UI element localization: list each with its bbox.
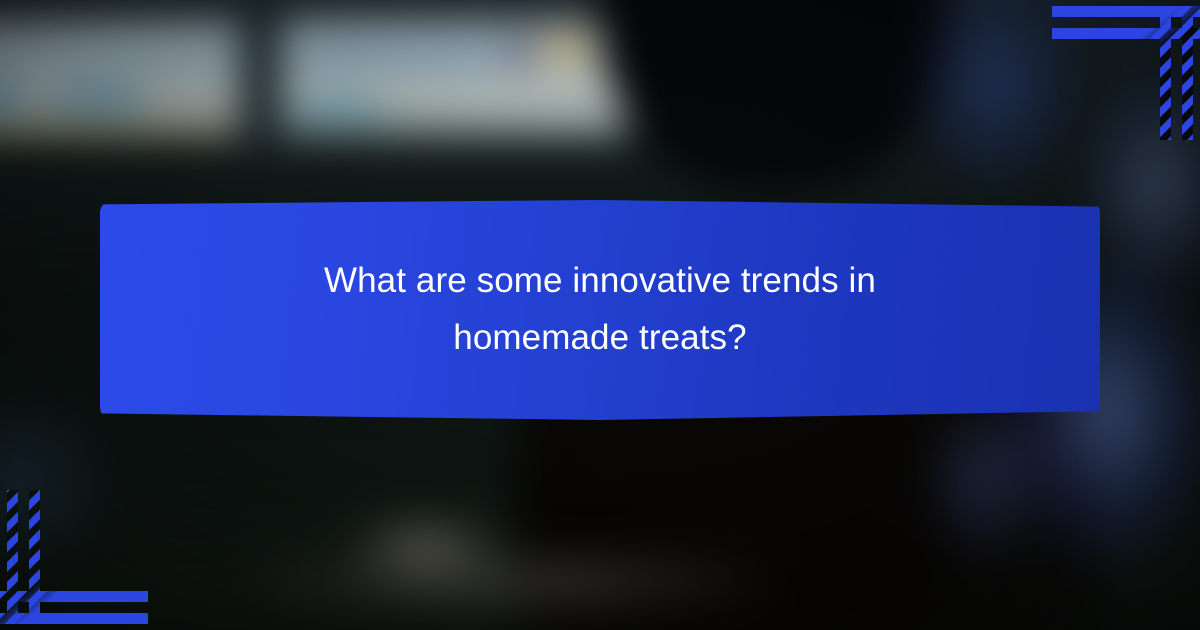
question-banner: What are some innovative trends in homem… [100,200,1100,420]
question-text: What are some innovative trends in homem… [240,253,960,366]
screenshot-canvas: What are some innovative trends in homem… [0,0,1200,630]
